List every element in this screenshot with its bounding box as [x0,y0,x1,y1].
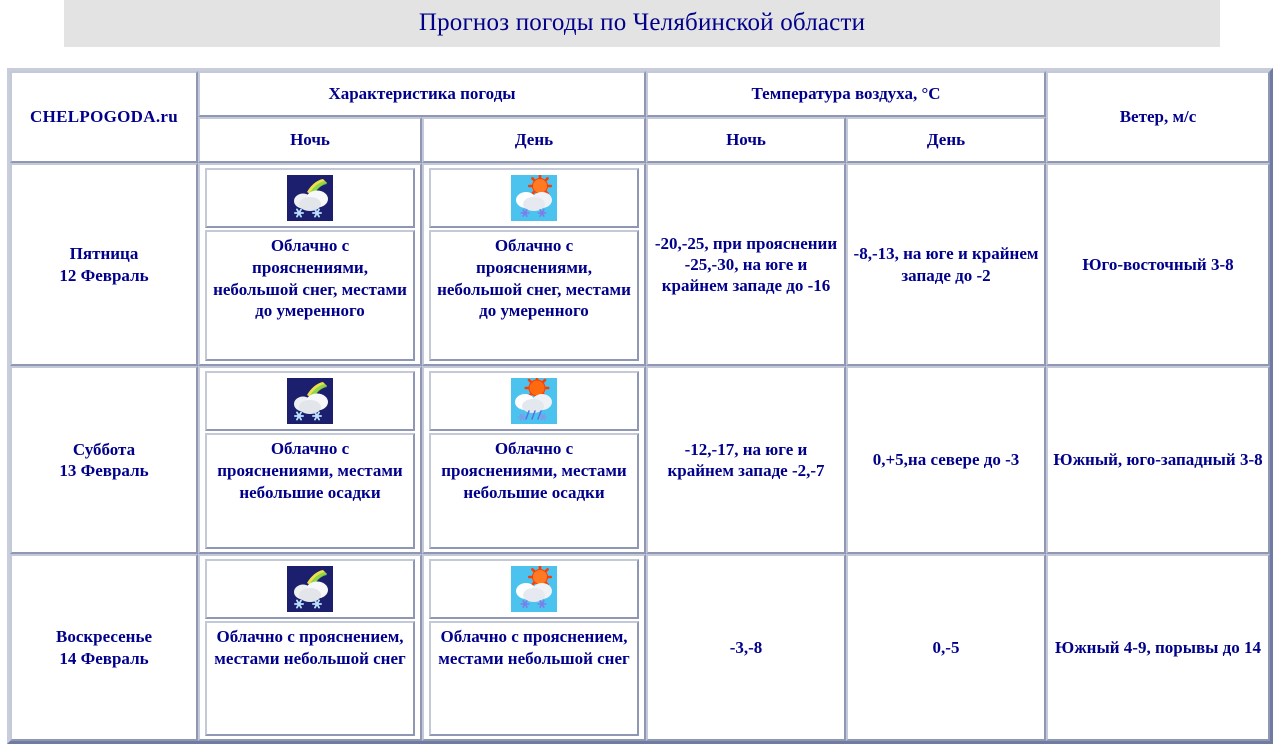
table-row: Пятница 12 Февраль [10,163,1270,366]
day-condition-cell: Облачно с прояснениями, местами небольши… [422,366,646,554]
night-temperature: -3,-8 [646,554,846,741]
night-condition-cell: Облачно с прояснениями, небольшой снег, … [198,163,422,366]
wind-value: Юго-восточный 3-8 [1046,163,1270,366]
table-row: Суббота 13 Февраль [10,366,1270,554]
day-condition-text: Облачно с прояснениями, небольшой снег, … [429,230,639,361]
night-condition-text: Облачно с прояснением, местами небольшой… [205,621,415,736]
brand-cell: CHELPOGODA.ru [10,71,198,163]
moon-clouds-snow-icon [287,378,333,424]
row-day-label: Воскресенье 14 Февраль [10,554,198,741]
header-condition-night: Ночь [198,117,422,163]
night-temperature: -12,-17, на юге и крайнем западе -2,-7 [646,366,846,554]
day-name: Суббота [16,439,192,460]
night-condition-text: Облачно с прояснениями, небольшой снег, … [205,230,415,361]
day-name: Воскресенье [16,626,192,647]
night-condition-cell: Облачно с прояснениями, местами небольши… [198,366,422,554]
night-icon-box [205,559,415,619]
day-date: 14 Февраль [16,648,192,669]
day-name: Пятница [16,243,192,264]
day-icon-box [429,168,639,228]
wind-value: Южный 4-9, порывы до 14 [1046,554,1270,741]
day-temperature: 0,-5 [846,554,1046,741]
night-condition-cell: Облачно с прояснением, местами небольшой… [198,554,422,741]
header-temperature-group: Температура воздуха, °C [646,71,1046,117]
moon-clouds-snow-icon [287,566,333,612]
table-header-row-1: CHELPOGODA.ru Характеристика погоды Темп… [10,71,1270,117]
day-condition-cell: Облачно с прояснениями, небольшой снег, … [422,163,646,366]
day-condition-text: Облачно с прояснением, местами небольшой… [429,621,639,736]
header-condition-group: Характеристика погоды [198,71,646,117]
night-temperature: -20,-25, при прояснении -25,-30, на юге … [646,163,846,366]
weather-forecast-table: CHELPOGODA.ru Характеристика погоды Темп… [7,68,1273,744]
day-temperature: -8,-13, на юге и крайнем западе до -2 [846,163,1046,366]
wind-value: Южный, юго-западный 3-8 [1046,366,1270,554]
title-band: Прогноз погоды по Челябинской области [64,0,1220,47]
header-temperature-day: День [846,117,1046,163]
header-condition-day: День [422,117,646,163]
day-icon-box [429,559,639,619]
sun-clouds-rain-snow-icon [511,378,557,424]
night-condition-text: Облачно с прояснениями, местами небольши… [205,433,415,549]
day-condition-cell: Облачно с прояснением, местами небольшой… [422,554,646,741]
sun-clouds-snow-icon [511,566,557,612]
day-date: 12 Февраль [16,265,192,286]
moon-clouds-snow-icon [287,175,333,221]
day-date: 13 Февраль [16,460,192,481]
table-row: Воскресенье 14 Февраль [10,554,1270,741]
day-temperature: 0,+5,на севере до -3 [846,366,1046,554]
night-icon-box [205,371,415,431]
day-icon-box [429,371,639,431]
page-title: Прогноз погоды по Челябинской области [64,9,1220,37]
row-day-label: Суббота 13 Февраль [10,366,198,554]
header-wind: Ветер, м/с [1046,71,1270,163]
night-icon-box [205,168,415,228]
row-day-label: Пятница 12 Февраль [10,163,198,366]
sun-clouds-snow-icon [511,175,557,221]
day-condition-text: Облачно с прояснениями, местами небольши… [429,433,639,549]
header-temperature-night: Ночь [646,117,846,163]
